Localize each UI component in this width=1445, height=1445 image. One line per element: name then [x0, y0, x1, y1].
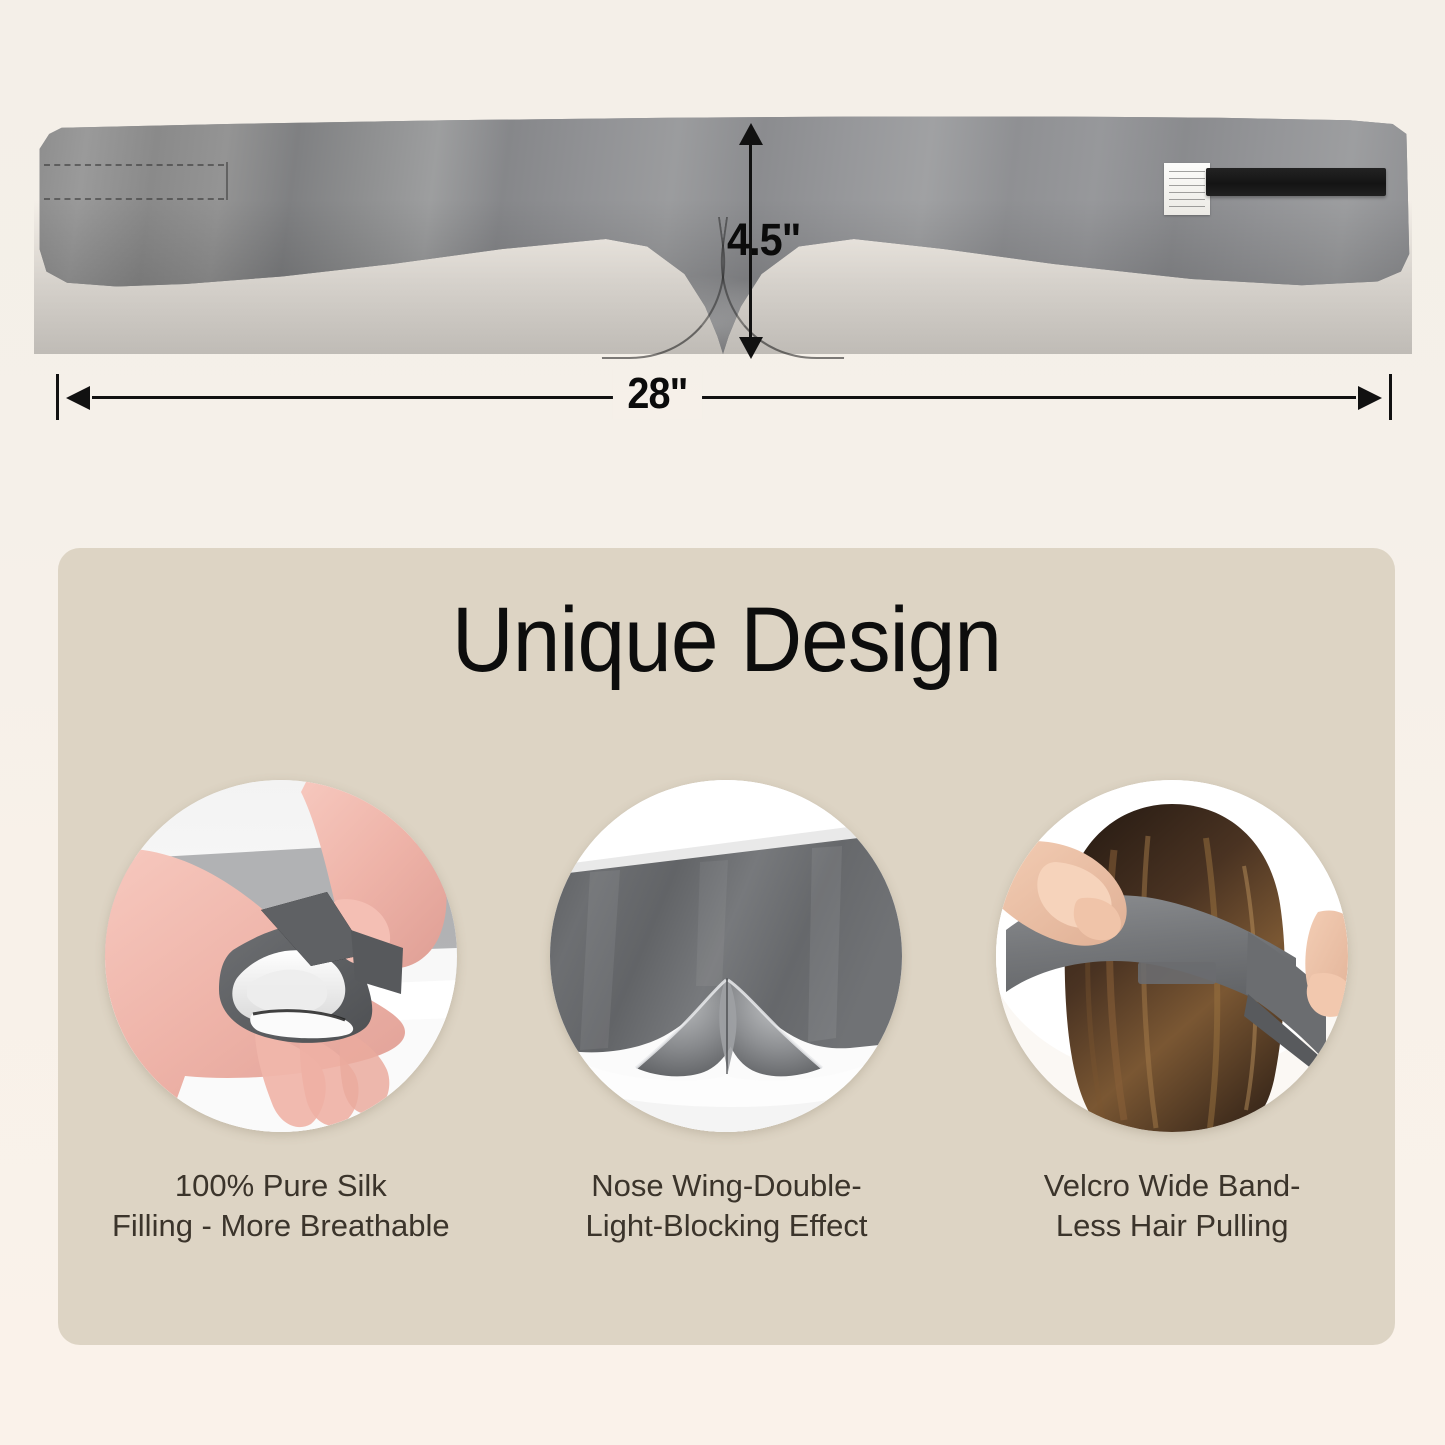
- arrow-left-icon: [66, 386, 90, 410]
- sleep-mask-product-image: [34, 104, 1412, 354]
- feature-card-nose-wing: Nose Wing-Double- Light-Blocking Effect: [526, 780, 926, 1245]
- dimension-tick-right: [1389, 374, 1392, 420]
- page-title: Unique Design: [105, 594, 1348, 686]
- black-hook-velcro-strip: [1206, 168, 1386, 196]
- width-dimension-label: 28": [613, 369, 702, 419]
- feature-image-velcro-band: [996, 780, 1348, 1132]
- width-dimension-line: [66, 396, 1382, 399]
- arrow-right-icon: [1358, 386, 1382, 410]
- feature-card-list: 100% Pure Silk Filling - More Breathable: [58, 780, 1395, 1245]
- stitch-end-cap: [226, 162, 228, 200]
- white-care-label: [1164, 163, 1210, 215]
- feature-card-velcro-band: Velcro Wide Band- Less Hair Pulling: [972, 780, 1372, 1245]
- stitched-loop-velcro-band: [44, 162, 224, 202]
- infographic-page: 4.5" 28" Unique Design: [0, 0, 1445, 1445]
- stitch-row-top: [44, 164, 224, 166]
- feature-image-silk-filling: [105, 780, 457, 1132]
- arrow-up-icon: [739, 123, 763, 145]
- unique-design-panel: Unique Design: [58, 548, 1395, 1345]
- feature-caption-velcro-band: Velcro Wide Band- Less Hair Pulling: [1044, 1166, 1301, 1245]
- dimension-tick-left: [56, 374, 59, 420]
- height-dimension-label: 4.5": [727, 214, 801, 266]
- feature-caption-nose-wing: Nose Wing-Double- Light-Blocking Effect: [585, 1166, 867, 1245]
- product-hero-section: 4.5" 28": [0, 0, 1445, 545]
- feature-caption-silk-filling: 100% Pure Silk Filling - More Breathable: [112, 1166, 450, 1245]
- dimension-line-horizontal: [92, 396, 1356, 399]
- arrow-down-icon: [739, 337, 763, 359]
- feature-image-nose-wing: [550, 780, 902, 1132]
- stitch-row-bottom: [44, 198, 224, 200]
- feature-card-silk-filling: 100% Pure Silk Filling - More Breathable: [81, 780, 481, 1245]
- mask-body-shape: [34, 104, 1412, 354]
